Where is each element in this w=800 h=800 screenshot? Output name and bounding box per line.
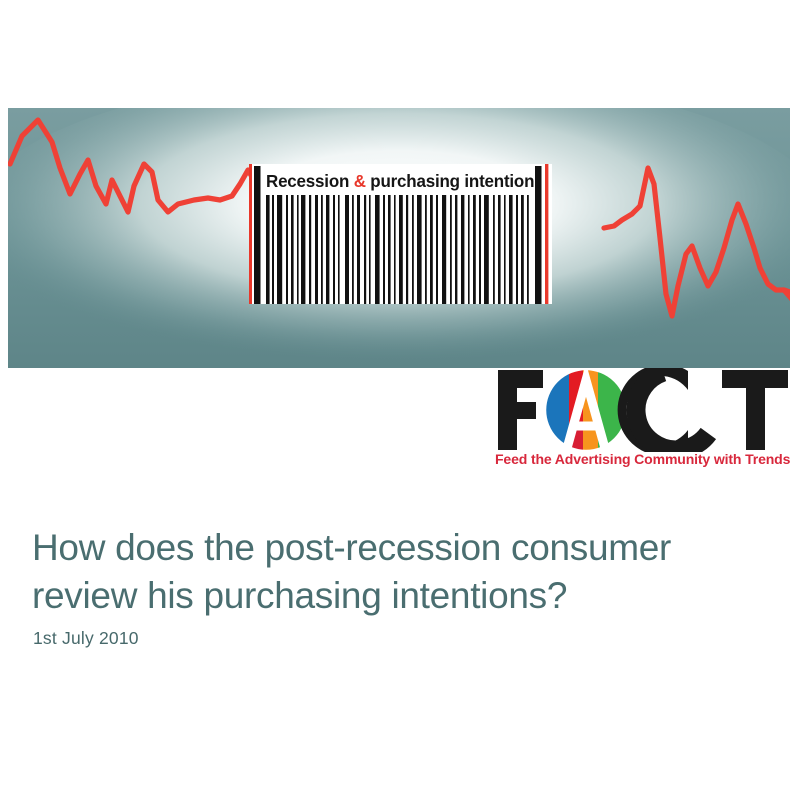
title-slide: Recession & purchasing intention [0,0,800,800]
page-title-line-2: review his purchasing intentions? [32,572,772,620]
page-title: How does the post-recession consumer rev… [32,524,772,620]
barcode-left-guard [249,164,252,304]
barcode-graphic: Recession & purchasing intention [246,164,556,304]
fact-wordmark-icon [492,368,792,452]
page-title-line-1: How does the post-recession consumer [32,524,772,572]
barcode-caption-tail: purchasing intention [366,171,535,191]
barcode-caption-ampersand: & [354,171,366,191]
logo-letter-f [498,370,543,450]
barcode-caption: Recession & purchasing intention [266,168,530,194]
logo-letter-t [722,370,788,450]
slide-date: 1st July 2010 [33,628,139,649]
logo-tagline: Feed the Advertising Community with Tren… [495,452,788,468]
barcode-caption-head: Recession [266,171,354,191]
barcode-right-guard [545,164,548,304]
logo-letter-c [618,368,732,452]
fact-logo[interactable]: Feed the Advertising Community with Tren… [492,368,792,480]
